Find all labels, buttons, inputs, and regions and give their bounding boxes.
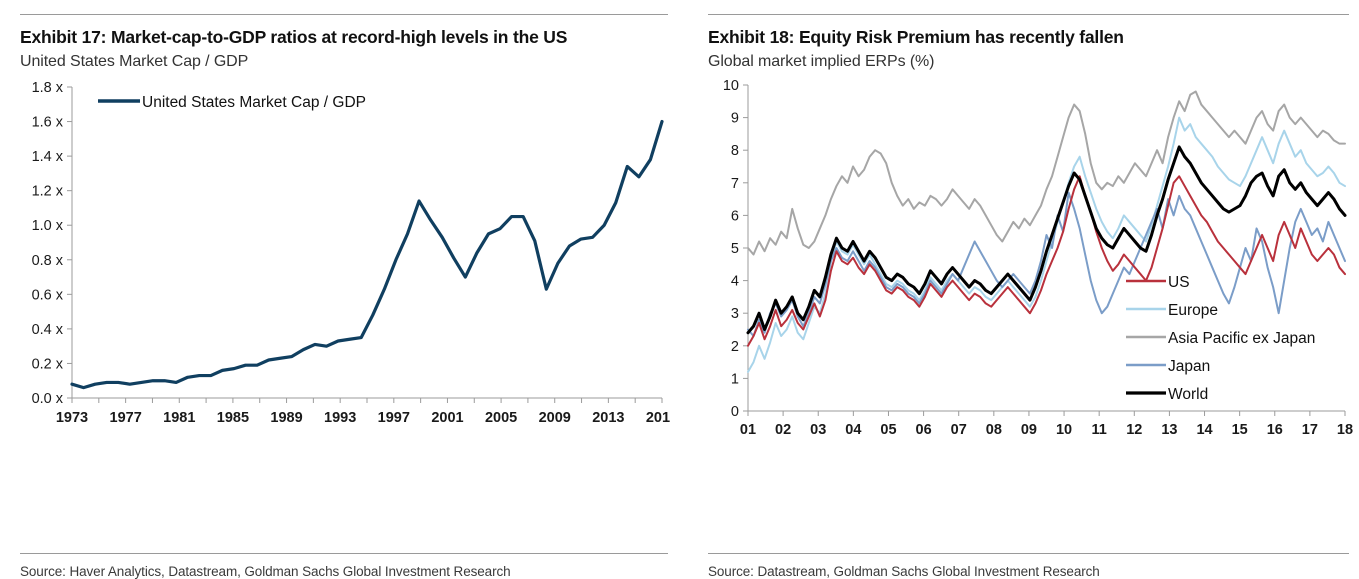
legend-label-japan: Japan <box>1168 358 1210 375</box>
y-axis-tick-label: 8 <box>731 143 739 159</box>
exhibit-17-panel: Exhibit 17: Market-cap-to-GDP ratios at … <box>0 0 690 579</box>
y-axis-tick-label: 0.2 x <box>32 356 64 372</box>
x-axis-tick-label: 09 <box>1021 422 1037 438</box>
y-axis-tick-label: 0.8 x <box>32 253 64 269</box>
y-axis-tick-label: 1 <box>731 371 739 387</box>
x-axis-tick-label: 1993 <box>324 410 356 426</box>
y-axis-tick-label: 0.4 x <box>32 322 64 338</box>
equity-risk-premium-line-chart: 0123456789100102030405060708091011121314… <box>708 73 1353 458</box>
legend-label-world: World <box>1168 386 1208 403</box>
x-axis-tick-label: 18 <box>1337 422 1353 438</box>
x-axis-tick-label: 1985 <box>217 410 249 426</box>
x-axis-tick-label: 2013 <box>592 410 624 426</box>
y-axis-tick-label: 2 <box>731 339 739 355</box>
legend-label-europe: Europe <box>1168 302 1218 319</box>
x-axis-tick-label: 13 <box>1161 422 1177 438</box>
x-axis-tick-label: 1973 <box>56 410 88 426</box>
exhibit-17-chart-area: 0.0 x0.2 x0.4 x0.6 x0.8 x1.0 x1.2 x1.4 x… <box>20 73 668 547</box>
y-axis-tick-label: 1.2 x <box>32 184 64 200</box>
x-axis-tick-label: 14 <box>1196 422 1212 438</box>
exhibit-17-title: Exhibit 17: Market-cap-to-GDP ratios at … <box>20 26 668 49</box>
exhibit-17-subtitle: United States Market Cap / GDP <box>20 52 668 73</box>
x-axis-tick-label: 1989 <box>270 410 302 426</box>
top-divider-left <box>20 14 668 15</box>
y-axis-tick-label: 3 <box>731 306 739 322</box>
exhibit-18-panel: Exhibit 18: Equity Risk Premium has rece… <box>690 0 1359 579</box>
y-axis-tick-label: 7 <box>731 176 739 192</box>
x-axis-tick-label: 08 <box>986 422 1002 438</box>
y-axis-tick-label: 1.4 x <box>32 149 64 165</box>
x-axis-tick-label: 01 <box>740 422 756 438</box>
x-axis-tick-label: 2005 <box>485 410 517 426</box>
x-axis-tick-label: 11 <box>1092 422 1107 438</box>
x-axis-tick-label: 15 <box>1232 422 1248 438</box>
exhibit-17-source: Source: Haver Analytics, Datastream, Gol… <box>20 554 668 579</box>
x-axis-tick-label: 2017 <box>646 410 670 426</box>
x-axis-tick-label: 1977 <box>110 410 142 426</box>
top-divider-right <box>708 14 1349 15</box>
x-axis-tick-label: 12 <box>1126 422 1142 438</box>
legend-label-asia-pacific-ex-japan: Asia Pacific ex Japan <box>1168 330 1315 347</box>
y-axis-tick-label: 6 <box>731 208 739 224</box>
y-axis-tick-label: 9 <box>731 110 739 126</box>
exhibits-page: Exhibit 17: Market-cap-to-GDP ratios at … <box>0 0 1359 579</box>
market-cap-to-gdp-line-chart: 0.0 x0.2 x0.4 x0.6 x0.8 x1.0 x1.2 x1.4 x… <box>20 73 670 443</box>
y-axis-tick-label: 0.6 x <box>32 287 64 303</box>
x-axis-tick-label: 16 <box>1267 422 1283 438</box>
series-line-united-states-market-cap-gdp <box>72 121 662 387</box>
legend-label-us: US <box>1168 274 1190 291</box>
x-axis-tick-label: 10 <box>1056 422 1072 438</box>
x-axis-tick-label: 17 <box>1302 422 1318 438</box>
exhibit-18-chart-area: 0123456789100102030405060708091011121314… <box>708 73 1349 547</box>
x-axis-tick-label: 1981 <box>163 410 195 426</box>
x-axis-tick-label: 07 <box>951 422 967 438</box>
y-axis-tick-label: 1.0 x <box>32 218 64 234</box>
exhibit-18-subtitle: Global market implied ERPs (%) <box>708 52 1349 73</box>
y-axis-tick-label: 4 <box>731 273 739 289</box>
y-axis-tick-label: 0 <box>731 404 739 420</box>
x-axis-tick-label: 06 <box>916 422 932 438</box>
x-axis-tick-label: 05 <box>880 422 896 438</box>
exhibit-18-title: Exhibit 18: Equity Risk Premium has rece… <box>708 26 1349 49</box>
x-axis-tick-label: 2001 <box>431 410 463 426</box>
exhibit-18-source: Source: Datastream, Goldman Sachs Global… <box>708 554 1349 579</box>
x-axis-tick-label: 1997 <box>378 410 410 426</box>
y-axis-tick-label: 1.6 x <box>32 114 64 130</box>
y-axis-tick-label: 5 <box>731 241 739 257</box>
y-axis-tick-label: 0.0 x <box>32 391 64 407</box>
x-axis-tick-label: 02 <box>775 422 791 438</box>
x-axis-tick-label: 2009 <box>539 410 571 426</box>
y-axis-tick-label: 10 <box>723 78 739 94</box>
y-axis-tick-label: 1.8 x <box>32 80 64 96</box>
x-axis-tick-label: 04 <box>845 422 861 438</box>
x-axis-tick-label: 03 <box>810 422 826 438</box>
legend-label-us-market-cap: United States Market Cap / GDP <box>142 94 366 111</box>
